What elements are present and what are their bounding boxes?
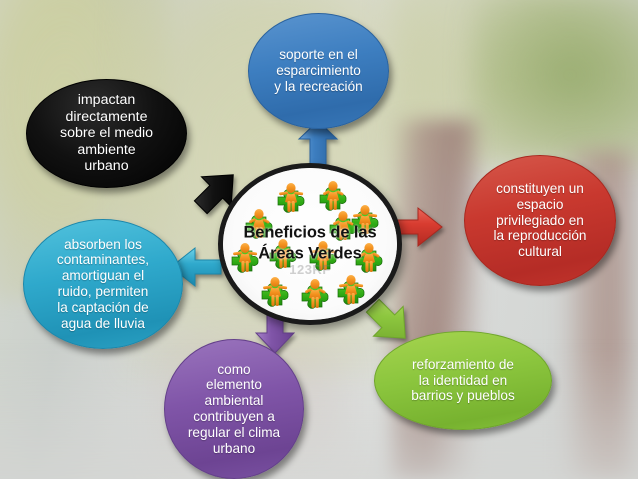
node-blue-label: soporte en el esparcimiento y la recreac… <box>259 47 378 94</box>
node-soporte-esparcimiento[interactable]: soporte en el esparcimiento y la recreac… <box>248 13 389 129</box>
center-title: Beneficios de las Áreas Verdes <box>223 223 397 266</box>
node-green-label: reforzamiento de la identidad en barrios… <box>385 357 541 404</box>
node-cyan-label: absorben los contaminantes, amortiguan e… <box>34 237 172 332</box>
node-purple-label: como elemento ambiental contribuyen a re… <box>175 362 293 457</box>
diagram-slide: 123RF Beneficios de las Áreas Verdes imp… <box>0 0 638 479</box>
node-black-label: impactan directamente sobre el medio amb… <box>37 92 176 174</box>
node-red-label: constituyen un espacio privilegiado en l… <box>475 181 605 260</box>
node-absorben-contaminantes[interactable]: absorben los contaminantes, amortiguan e… <box>23 219 183 349</box>
center-node[interactable]: 123RF Beneficios de las Áreas Verdes <box>218 163 402 325</box>
center-illustration: 123RF Beneficios de las Áreas Verdes <box>223 168 397 320</box>
node-reforzamiento-identidad[interactable]: reforzamiento de la identidad en barrios… <box>374 331 552 430</box>
node-impactan-directamente[interactable]: impactan directamente sobre el medio amb… <box>26 79 187 188</box>
node-espacio-privilegiado[interactable]: constituyen un espacio privilegiado en l… <box>464 155 616 286</box>
node-regular-clima[interactable]: como elemento ambiental contribuyen a re… <box>164 339 304 479</box>
